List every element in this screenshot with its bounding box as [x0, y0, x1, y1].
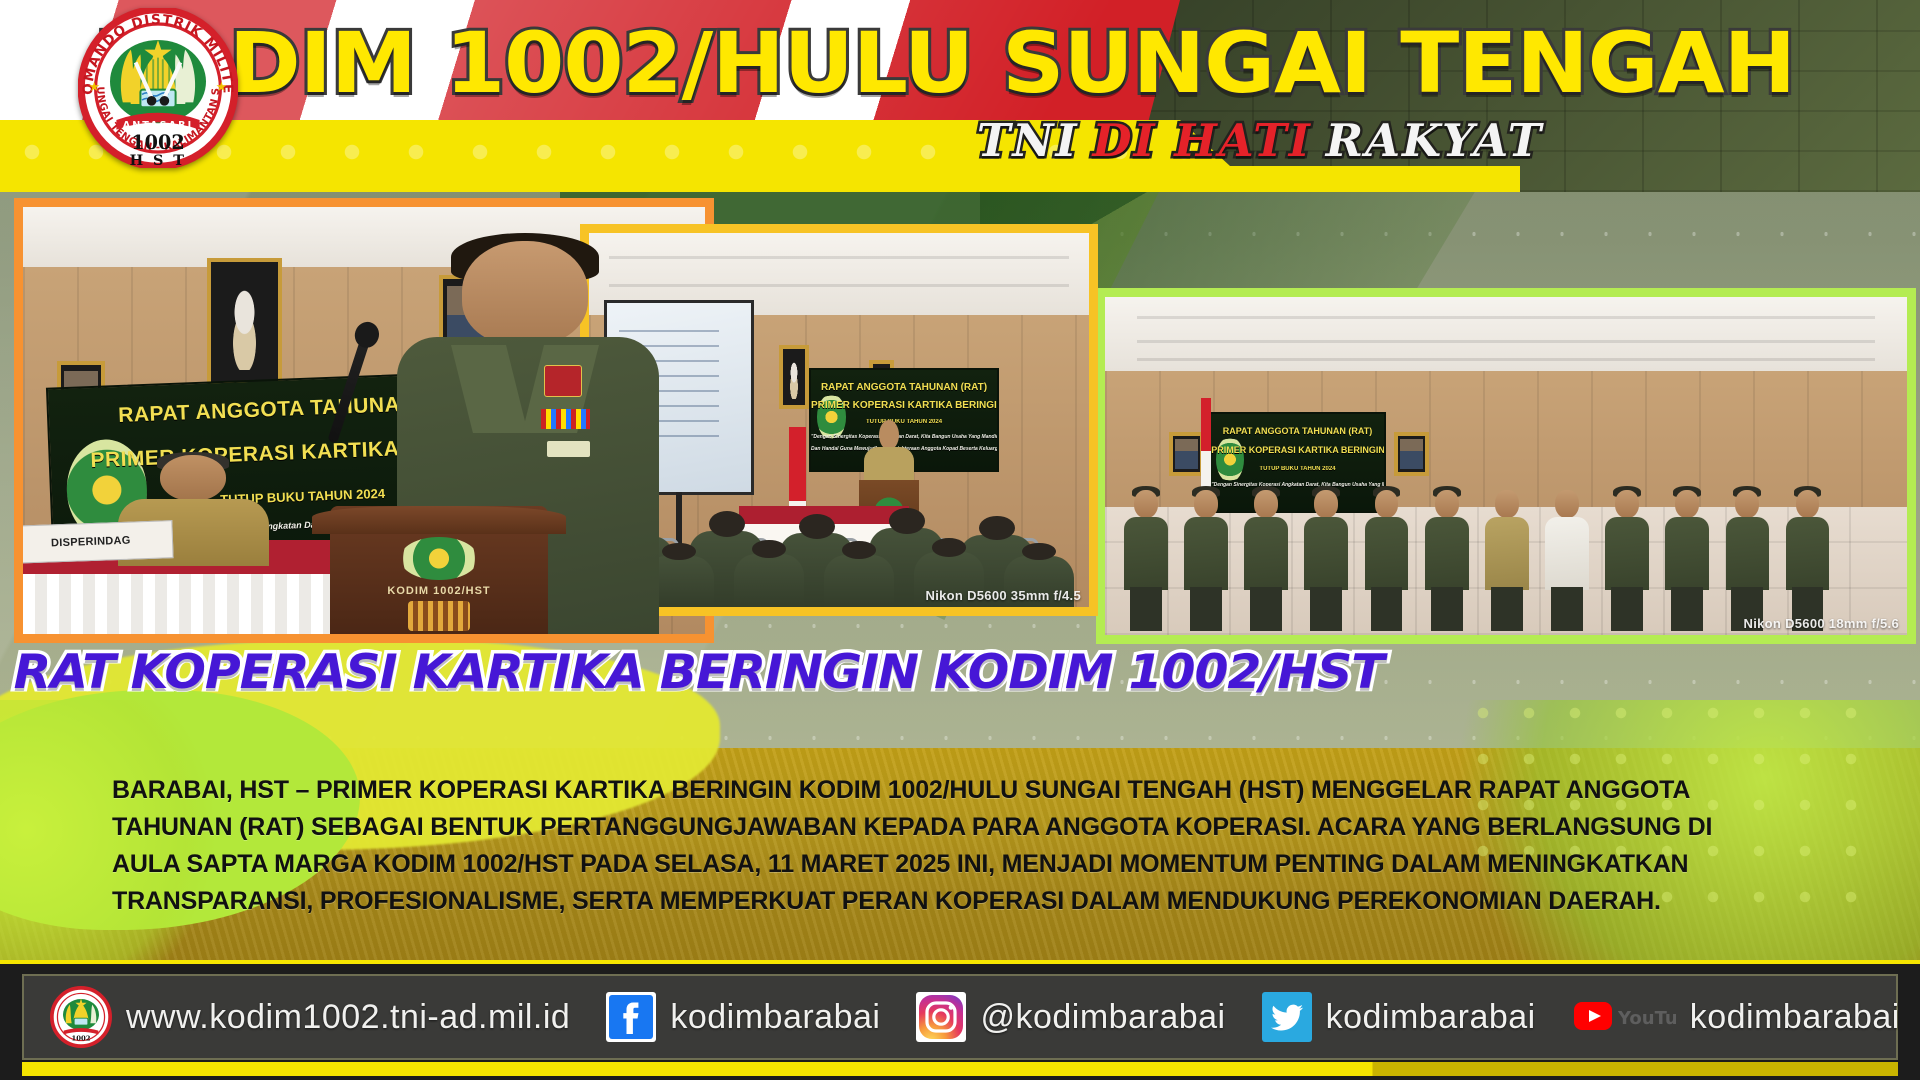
overlay-caption: RAT KOPERASI KARTIKA BERINGIN KODIM 1002… [14, 645, 1384, 700]
footer-twitter-text: kodimbarabai [1326, 998, 1536, 1037]
svg-text:YouTube: YouTube [1617, 1008, 1676, 1029]
group-person [1181, 490, 1231, 631]
page-title: KODIM 1002/HULU SUNGAI TENGAH [280, 8, 1610, 118]
article-line-4: TRANSPARANSI, PROFESIONALISME, SERTA MEM… [112, 883, 1812, 920]
kodim-emblem-icon: KOMANDO DISTRIK MILITER HULU SUNGAI TENG… [78, 8, 238, 168]
banner-line-2-p2: PRIMER KOPERASI KARTIKA BERINGIN [811, 400, 997, 411]
podium-1: KODIM 1002/HST [330, 506, 548, 634]
banner-line-1-p3: RAPAT ANGGOTA TAHUNAN (RAT) [1211, 426, 1383, 436]
podium-label: KODIM 1002/HST [330, 585, 548, 597]
article-line-2: TAHUNAN (RAT) SEBAGAI BENTUK PERTANGGUNG… [112, 809, 1812, 846]
group-person [1602, 490, 1652, 631]
group-person [1362, 490, 1412, 631]
instagram-icon [916, 992, 966, 1042]
header: KOMANDO DISTRIK MILITER HULU SUNGAI TENG… [0, 0, 1920, 192]
group-person [1241, 490, 1291, 631]
tagline-word-rakyat: RAKYAT [1326, 114, 1543, 167]
group-row-3 [1105, 439, 1907, 635]
group-person [1301, 490, 1351, 631]
svg-text:ANTASARI: ANTASARI [123, 120, 194, 131]
footer-website-text: www.kodim1002.tni-ad.mil.id [126, 998, 570, 1037]
page-title-text: KODIM 1002/HULU SUNGAI TENGAH [95, 14, 1796, 112]
kodim-emblem-small-icon: 1002 [50, 986, 112, 1048]
camera-watermark-2: Nikon D5600 35mm f/4.5 [926, 588, 1081, 603]
audience-person [824, 555, 894, 607]
footer-website[interactable]: 1002 www.kodim1002.tni-ad.mil.id [50, 986, 570, 1048]
podium-ornament [408, 601, 469, 632]
article-line-1: BARABAI, HST – PRIMER KOPERASI KARTIKA B… [112, 772, 1812, 809]
svg-text:H S T: H S T [130, 152, 187, 168]
svg-text:★: ★ [88, 79, 99, 94]
article-line-3: AULA SAPTA MARGA KODIM 1002/HST PADA SEL… [112, 846, 1812, 883]
photo-group-photo-content: RAPAT ANGGOTA TAHUNAN (RAT) PRIMER KOPER… [1105, 297, 1907, 635]
group-person [1422, 490, 1472, 631]
photo-rat-speaker[interactable]: RAPAT ANGGOTA TAHUNAN (RAT) PRIMER KOPER… [14, 198, 714, 643]
audience-person [734, 554, 804, 607]
footer-facebook[interactable]: kodimbarabai [606, 992, 880, 1042]
group-person [1723, 490, 1773, 631]
group-person [1121, 490, 1171, 631]
footer-instagram-text: @kodimbarabai [980, 998, 1225, 1037]
group-person [1662, 490, 1712, 631]
garuda-frame-1 [207, 258, 282, 386]
poster-root: ●● KOMANDO DISTRIK MILITER HULU SUNGAI T… [0, 0, 1920, 1080]
ceiling-3 [1105, 297, 1907, 371]
group-person [1482, 490, 1532, 631]
svg-text:★: ★ [216, 79, 227, 94]
tagline-word-tni: TNI [977, 114, 1079, 167]
youtube-icon: YouTube [1572, 992, 1676, 1042]
article-body: BARABAI, HST – PRIMER KOPERASI KARTIKA B… [112, 772, 1812, 920]
twitter-icon [1262, 992, 1312, 1042]
footer-youtube-text: kodimbarabai [1690, 998, 1900, 1037]
footer-instagram[interactable]: @kodimbarabai [916, 992, 1225, 1042]
svg-text:1002: 1002 [131, 131, 184, 154]
banner-line-1-p2: RAPAT ANGGOTA TAHUNAN (RAT) [811, 382, 997, 393]
group-person [1783, 490, 1833, 631]
footer-youtube[interactable]: YouTube kodimbarabai [1572, 992, 1900, 1042]
facebook-icon [606, 992, 656, 1042]
nameplate-disperindag: DISPERINDAG [23, 520, 174, 564]
footer-yellow-strip [22, 1062, 1898, 1076]
photo-group-photo[interactable]: RAPAT ANGGOTA TAHUNAN (RAT) PRIMER KOPER… [1096, 288, 1916, 644]
footer-twitter[interactable]: kodimbarabai [1262, 992, 1536, 1042]
footer: 1002 www.kodim1002.tni-ad.mil.id kodimba… [0, 960, 1920, 1080]
svg-text:1002: 1002 [72, 1035, 91, 1043]
photo-rat-speaker-content: RAPAT ANGGOTA TAHUNAN (RAT) PRIMER KOPER… [23, 207, 705, 634]
footer-social-bar: 1002 www.kodim1002.tni-ad.mil.id kodimba… [22, 974, 1898, 1060]
garuda-frame-2 [779, 345, 809, 409]
footer-facebook-text: kodimbarabai [670, 998, 880, 1037]
camera-watermark-3: Nikon D5600 18mm f/5.6 [1744, 616, 1899, 631]
tagline-word-dihati: DI HATI [1093, 114, 1312, 167]
tagline: TNI DI HATI RAKYAT [880, 110, 1640, 170]
group-person [1542, 490, 1592, 631]
podium-emblem-icon [400, 537, 479, 581]
